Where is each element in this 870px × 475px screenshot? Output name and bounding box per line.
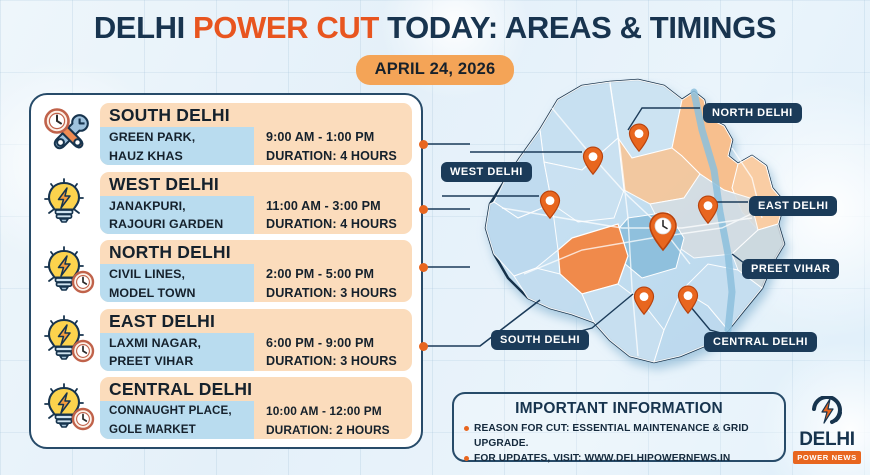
connector-dot-east bbox=[419, 342, 428, 351]
pin-east[interactable] bbox=[697, 195, 719, 230]
pin-south[interactable] bbox=[633, 286, 655, 321]
row-body: NORTH DELHI CIVIL LINES,MODEL TOWN 2:00 … bbox=[100, 240, 412, 302]
logo-tagline: POWER NEWS bbox=[793, 451, 861, 464]
schedule-row[interactable]: WEST DELHI JANAKPURI,RAJOURI GARDEN 11:0… bbox=[38, 171, 412, 235]
map-pin-icon bbox=[677, 285, 699, 315]
map-pin-icon bbox=[539, 190, 561, 220]
row-icon bbox=[38, 378, 100, 438]
row-district: WEST DELHI bbox=[109, 174, 219, 195]
title-part-1: DELHI bbox=[94, 10, 193, 45]
map-pin-icon bbox=[628, 123, 650, 153]
wrench-clock-icon bbox=[40, 106, 98, 162]
pin-northwest[interactable] bbox=[582, 146, 604, 181]
map-label-east-delhi[interactable]: EAST DELHI bbox=[749, 196, 837, 216]
bullet-icon bbox=[464, 456, 469, 461]
row-district: EAST DELHI bbox=[109, 311, 215, 332]
map-label-central-delhi[interactable]: CENTRAL DELHI bbox=[704, 332, 817, 352]
header: DELHI POWER CUT TODAY: AREAS & TIMINGS A… bbox=[0, 10, 870, 85]
info-item: REASON FOR CUT: ESSENTIAL MAINTENANCE & … bbox=[464, 421, 774, 451]
row-areas: LAXMI NAGAR,PREET VIHAR bbox=[109, 334, 259, 371]
row-district: CENTRAL DELHI bbox=[109, 379, 252, 400]
pin-west[interactable] bbox=[539, 190, 561, 225]
page-title: DELHI POWER CUT TODAY: AREAS & TIMINGS bbox=[0, 10, 870, 46]
info-item: FOR UPDATES, VISIT: WWW.DELHIPOWERNEWS.I… bbox=[464, 451, 774, 466]
row-timing: 11:00 AM - 3:00 PMDURATION: 4 HOURS bbox=[266, 197, 397, 234]
row-icon bbox=[38, 173, 100, 233]
row-icon bbox=[38, 241, 100, 301]
connector-dot-west bbox=[419, 205, 428, 214]
connector-dot-south bbox=[419, 140, 428, 149]
bulb-bolt-clock-icon bbox=[40, 312, 98, 368]
infographic-root: DELHI POWER CUT TODAY: AREAS & TIMINGS A… bbox=[0, 0, 870, 475]
schedule-rows: SOUTH DELHI GREEN PARK,HAUZ KHAS 9:00 AM… bbox=[38, 102, 412, 440]
map-label-south-delhi[interactable]: SOUTH DELHI bbox=[491, 330, 589, 350]
row-district: SOUTH DELHI bbox=[109, 105, 230, 126]
row-icon bbox=[38, 104, 100, 164]
info-item-text: REASON FOR CUT: ESSENTIAL MAINTENANCE & … bbox=[474, 421, 774, 451]
important-information-box: IMPORTANT INFORMATION REASON FOR CUT: ES… bbox=[452, 392, 786, 462]
row-areas: GREEN PARK,HAUZ KHAS bbox=[109, 128, 259, 165]
delhi-map[interactable]: NORTH DELHIWEST DELHIEAST DELHIPREET VIH… bbox=[432, 78, 870, 388]
pin-central[interactable] bbox=[648, 212, 678, 257]
map-label-preet-vihar[interactable]: PREET VIHAR bbox=[742, 259, 839, 279]
row-timing: 10:00 AM - 12:00 PMDURATION: 2 HOURS bbox=[266, 402, 390, 439]
connector-dot-north bbox=[419, 263, 428, 272]
map-label-west-delhi[interactable]: WEST DELHI bbox=[441, 162, 532, 182]
map-label-north-delhi[interactable]: NORTH DELHI bbox=[703, 103, 802, 123]
row-areas: CIVIL LINES,MODEL TOWN bbox=[109, 265, 259, 302]
pin-southeast[interactable] bbox=[677, 285, 699, 320]
row-areas: JANAKPURI,RAJOURI GARDEN bbox=[109, 197, 259, 234]
title-accent: POWER CUT bbox=[193, 10, 379, 45]
row-body: WEST DELHI JANAKPURI,RAJOURI GARDEN 11:0… bbox=[100, 172, 412, 234]
info-title: IMPORTANT INFORMATION bbox=[464, 400, 774, 418]
logo-bolt-circle-icon bbox=[793, 396, 861, 426]
row-body: EAST DELHI LAXMI NAGAR,PREET VIHAR 6:00 … bbox=[100, 309, 412, 371]
logo-name: DELHI bbox=[793, 430, 861, 450]
bullet-icon bbox=[464, 426, 469, 431]
schedule-row[interactable]: EAST DELHI LAXMI NAGAR,PREET VIHAR 6:00 … bbox=[38, 308, 412, 372]
row-icon bbox=[38, 310, 100, 370]
row-body: SOUTH DELHI GREEN PARK,HAUZ KHAS 9:00 AM… bbox=[100, 103, 412, 165]
map-pin-clock-icon bbox=[648, 212, 678, 252]
date-badge: APRIL 24, 2026 bbox=[356, 55, 515, 85]
row-body: CENTRAL DELHI CONNAUGHT PLACE,GOLE MARKE… bbox=[100, 377, 412, 439]
row-timing: 6:00 PM - 9:00 PMDURATION: 3 HOURS bbox=[266, 334, 397, 371]
bulb-bolt-clock-icon bbox=[40, 243, 98, 299]
pin-north[interactable] bbox=[628, 123, 650, 158]
row-timing: 9:00 AM - 1:00 PMDURATION: 4 HOURS bbox=[266, 128, 397, 165]
brand-logo[interactable]: DELHI POWER NEWS bbox=[793, 396, 861, 464]
map-pin-icon bbox=[633, 286, 655, 316]
schedule-card: SOUTH DELHI GREEN PARK,HAUZ KHAS 9:00 AM… bbox=[29, 93, 423, 449]
row-timing: 2:00 PM - 5:00 PMDURATION: 3 HOURS bbox=[266, 265, 397, 302]
bulb-bolt-icon bbox=[40, 175, 98, 231]
row-district: NORTH DELHI bbox=[109, 242, 231, 263]
map-pin-icon bbox=[582, 146, 604, 176]
row-areas: CONNAUGHT PLACE,GOLE MARKET bbox=[109, 402, 259, 439]
bulb-bolt-clock-icon bbox=[40, 380, 98, 436]
info-item-text: FOR UPDATES, VISIT: WWW.DELHIPOWERNEWS.I… bbox=[474, 451, 730, 466]
schedule-row[interactable]: CENTRAL DELHI CONNAUGHT PLACE,GOLE MARKE… bbox=[38, 376, 412, 440]
schedule-row[interactable]: NORTH DELHI CIVIL LINES,MODEL TOWN 2:00 … bbox=[38, 239, 412, 303]
map-pin-icon bbox=[697, 195, 719, 225]
title-part-2: TODAY: AREAS & TIMINGS bbox=[379, 10, 776, 45]
schedule-row[interactable]: SOUTH DELHI GREEN PARK,HAUZ KHAS 9:00 AM… bbox=[38, 102, 412, 166]
